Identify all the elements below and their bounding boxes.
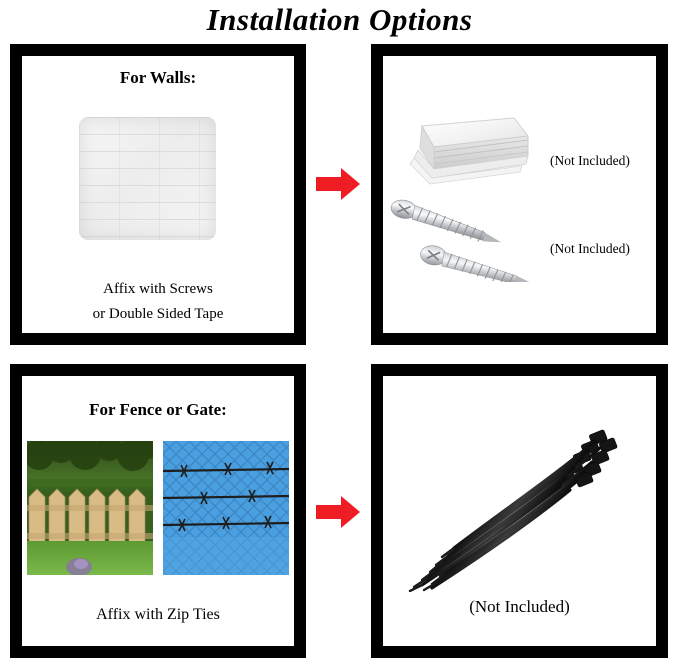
white-brick-wall-image	[79, 117, 216, 240]
red-right-arrow-icon-top	[316, 166, 360, 202]
zip-ties-bundle-image	[394, 424, 644, 592]
panel-fence-heading: For Fence or Gate:	[22, 400, 294, 420]
panel-walls-caption-line2: or Double Sided Tape	[22, 303, 294, 325]
page-title: Installation Options	[0, 2, 679, 38]
panel-walls-caption-line1: Affix with Screws	[22, 278, 294, 300]
screws-not-included-note: (Not Included)	[550, 241, 630, 257]
screws-image	[387, 196, 547, 282]
chain-link-fence-photo	[163, 441, 289, 575]
double-sided-tape-pack-image	[404, 114, 531, 187]
panel-hardware	[371, 44, 668, 345]
wooden-fence-photo	[27, 441, 153, 575]
panel-fence-caption: Affix with Zip Ties	[22, 604, 294, 626]
installation-options-infographic: Installation Options For Walls: Affix wi…	[0, 0, 679, 668]
tape-not-included-note: (Not Included)	[550, 153, 630, 169]
panel-walls-heading: For Walls:	[22, 68, 294, 88]
zip-ties-not-included-note: (Not Included)	[371, 597, 668, 617]
red-right-arrow-icon-bottom	[316, 494, 360, 530]
